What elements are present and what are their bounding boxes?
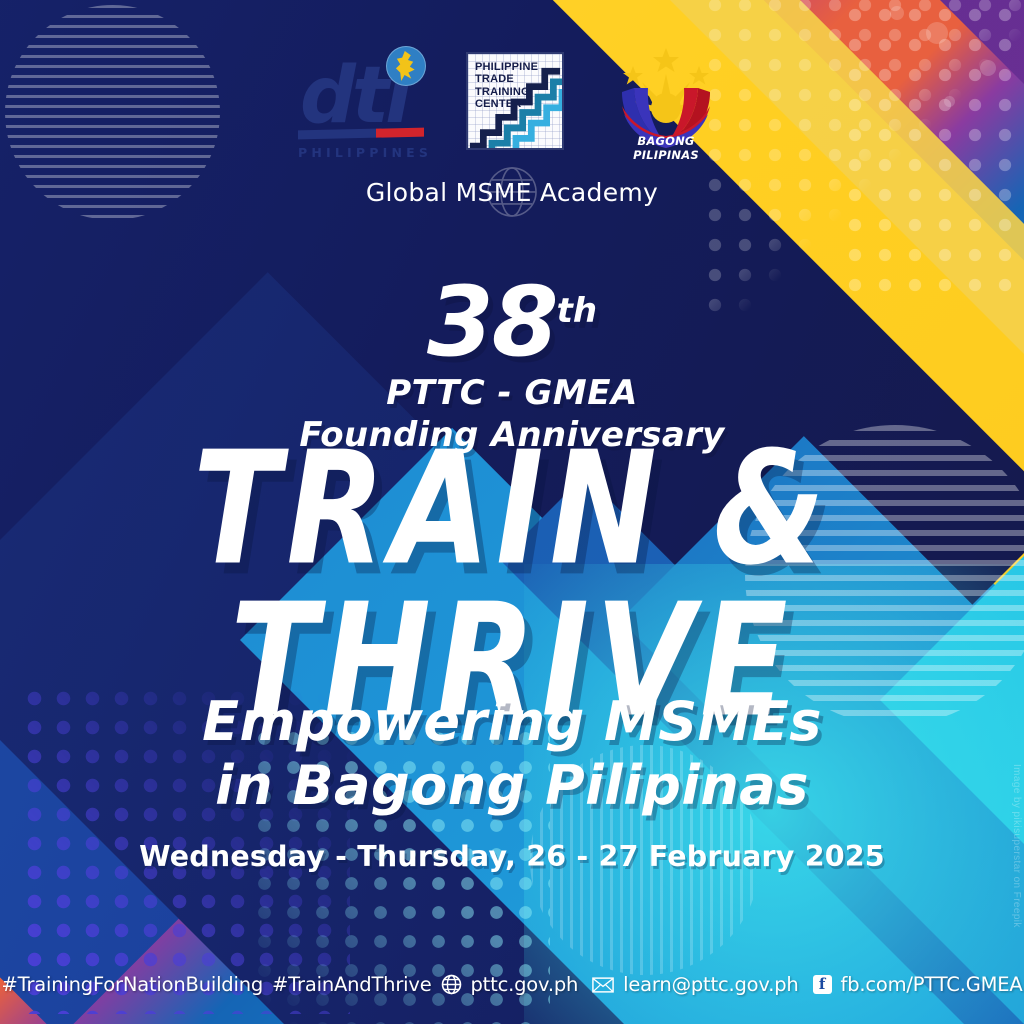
anniversary-number: 38th	[0, 268, 1024, 365]
dti-logo: dti PHILIPPINES	[298, 44, 424, 160]
footer-hashtag-1: #TrainingForNationBuilding	[2, 973, 264, 996]
poster-content: dti PHILIPPINES PHILIPPINE TRADE TRAININ…	[0, 0, 1024, 1024]
anniversary-org-line: PTTC - GMEA	[0, 373, 1024, 413]
ascending-chart-icon	[468, 54, 562, 148]
event-title-line-1: TRAIN &	[0, 438, 1024, 582]
global-msme-academy-lockup: Global MSME Academy	[360, 178, 664, 207]
event-subtitle-line-1: Empowering MSMEs	[0, 690, 1024, 754]
facebook-glyph: f	[813, 975, 832, 994]
event-title: TRAIN & THRIVE	[0, 438, 1024, 708]
bagong-pilipinas-label: BAGONG PILIPINAS	[606, 134, 726, 162]
bagong-pilipinas-logo: BAGONG PILIPINAS	[606, 44, 726, 162]
dti-country-label: PHILIPPINES	[298, 145, 424, 160]
organizer-logo-row: dti PHILIPPINES PHILIPPINE TRADE TRAININ…	[0, 44, 1024, 162]
footer-email[interactable]: learn@pttc.gov.ph	[623, 973, 798, 996]
anniversary-ordinal-suffix: th	[557, 291, 597, 331]
footer-hashtag-2: #TrainAndThrive	[272, 973, 431, 996]
footer-bar: #TrainingForNationBuilding #TrainAndThri…	[0, 973, 1024, 996]
globe-icon	[486, 165, 538, 217]
footer-facebook[interactable]: fb.com/PTTC.GMEA	[841, 973, 1023, 996]
facebook-icon: f	[813, 975, 832, 994]
poster-canvas: dti PHILIPPINES PHILIPPINE TRADE TRAININ…	[0, 0, 1024, 1024]
dti-globe-icon	[386, 46, 426, 86]
anniversary-number-value: 38	[427, 266, 557, 378]
envelope-icon	[592, 977, 614, 993]
image-credit: Image by pikisuperstar on Freepik	[1011, 764, 1022, 928]
footer-website[interactable]: pttc.gov.ph	[471, 973, 579, 996]
event-date: Wednesday - Thursday, 26 - 27 February 2…	[0, 840, 1024, 873]
event-subtitle-line-2: in Bagong Pilipinas	[0, 754, 1024, 818]
event-subtitle: Empowering MSMEs in Bagong Pilipinas	[0, 690, 1024, 818]
globe-icon	[441, 974, 462, 995]
global-msme-academy-row: Global MSME Academy	[0, 178, 1024, 207]
pttc-logo: PHILIPPINE TRADE TRAINING CENTER	[466, 52, 564, 150]
